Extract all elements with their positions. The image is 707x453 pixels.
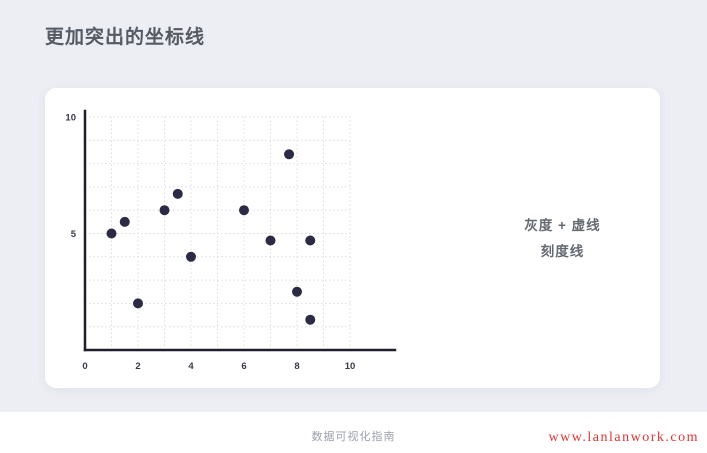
data-point bbox=[292, 287, 302, 297]
chart-annotation: 灰度 + 虚线 刻度线 bbox=[465, 213, 660, 265]
annotation-line-2: 刻度线 bbox=[465, 239, 660, 265]
data-point bbox=[284, 149, 294, 159]
data-point bbox=[186, 252, 196, 262]
data-point bbox=[266, 235, 276, 245]
scatter-plot: 0246810510 bbox=[45, 88, 465, 388]
y-tick-labels: 510 bbox=[65, 113, 76, 241]
site-watermark: www.lanlanwork.com bbox=[548, 430, 699, 446]
x-tick-label: 10 bbox=[345, 361, 356, 372]
x-tick-label: 4 bbox=[188, 361, 194, 372]
slide-canvas: 更加突出的坐标线 0246810510 灰度 + 虚线 刻度线 bbox=[0, 0, 707, 412]
x-tick-label: 8 bbox=[294, 361, 299, 372]
data-point bbox=[305, 315, 315, 325]
data-point bbox=[133, 298, 143, 308]
chart-card: 0246810510 灰度 + 虚线 刻度线 bbox=[45, 88, 660, 388]
y-tick-label: 5 bbox=[71, 229, 77, 240]
data-point bbox=[305, 235, 315, 245]
page-title: 更加突出的坐标线 bbox=[45, 22, 205, 49]
y-tick-label: 10 bbox=[65, 113, 76, 124]
data-point bbox=[173, 189, 183, 199]
data-point bbox=[160, 205, 170, 215]
x-tick-label: 6 bbox=[241, 361, 246, 372]
scatter-plot-svg: 0246810510 bbox=[45, 88, 465, 388]
data-point bbox=[107, 229, 117, 239]
x-tick-labels: 0246810 bbox=[82, 361, 355, 372]
data-point bbox=[239, 205, 249, 215]
axes bbox=[85, 111, 395, 350]
annotation-line-1: 灰度 + 虚线 bbox=[465, 213, 660, 239]
x-tick-label: 0 bbox=[82, 361, 87, 372]
x-tick-label: 2 bbox=[135, 361, 140, 372]
data-point bbox=[120, 217, 130, 227]
